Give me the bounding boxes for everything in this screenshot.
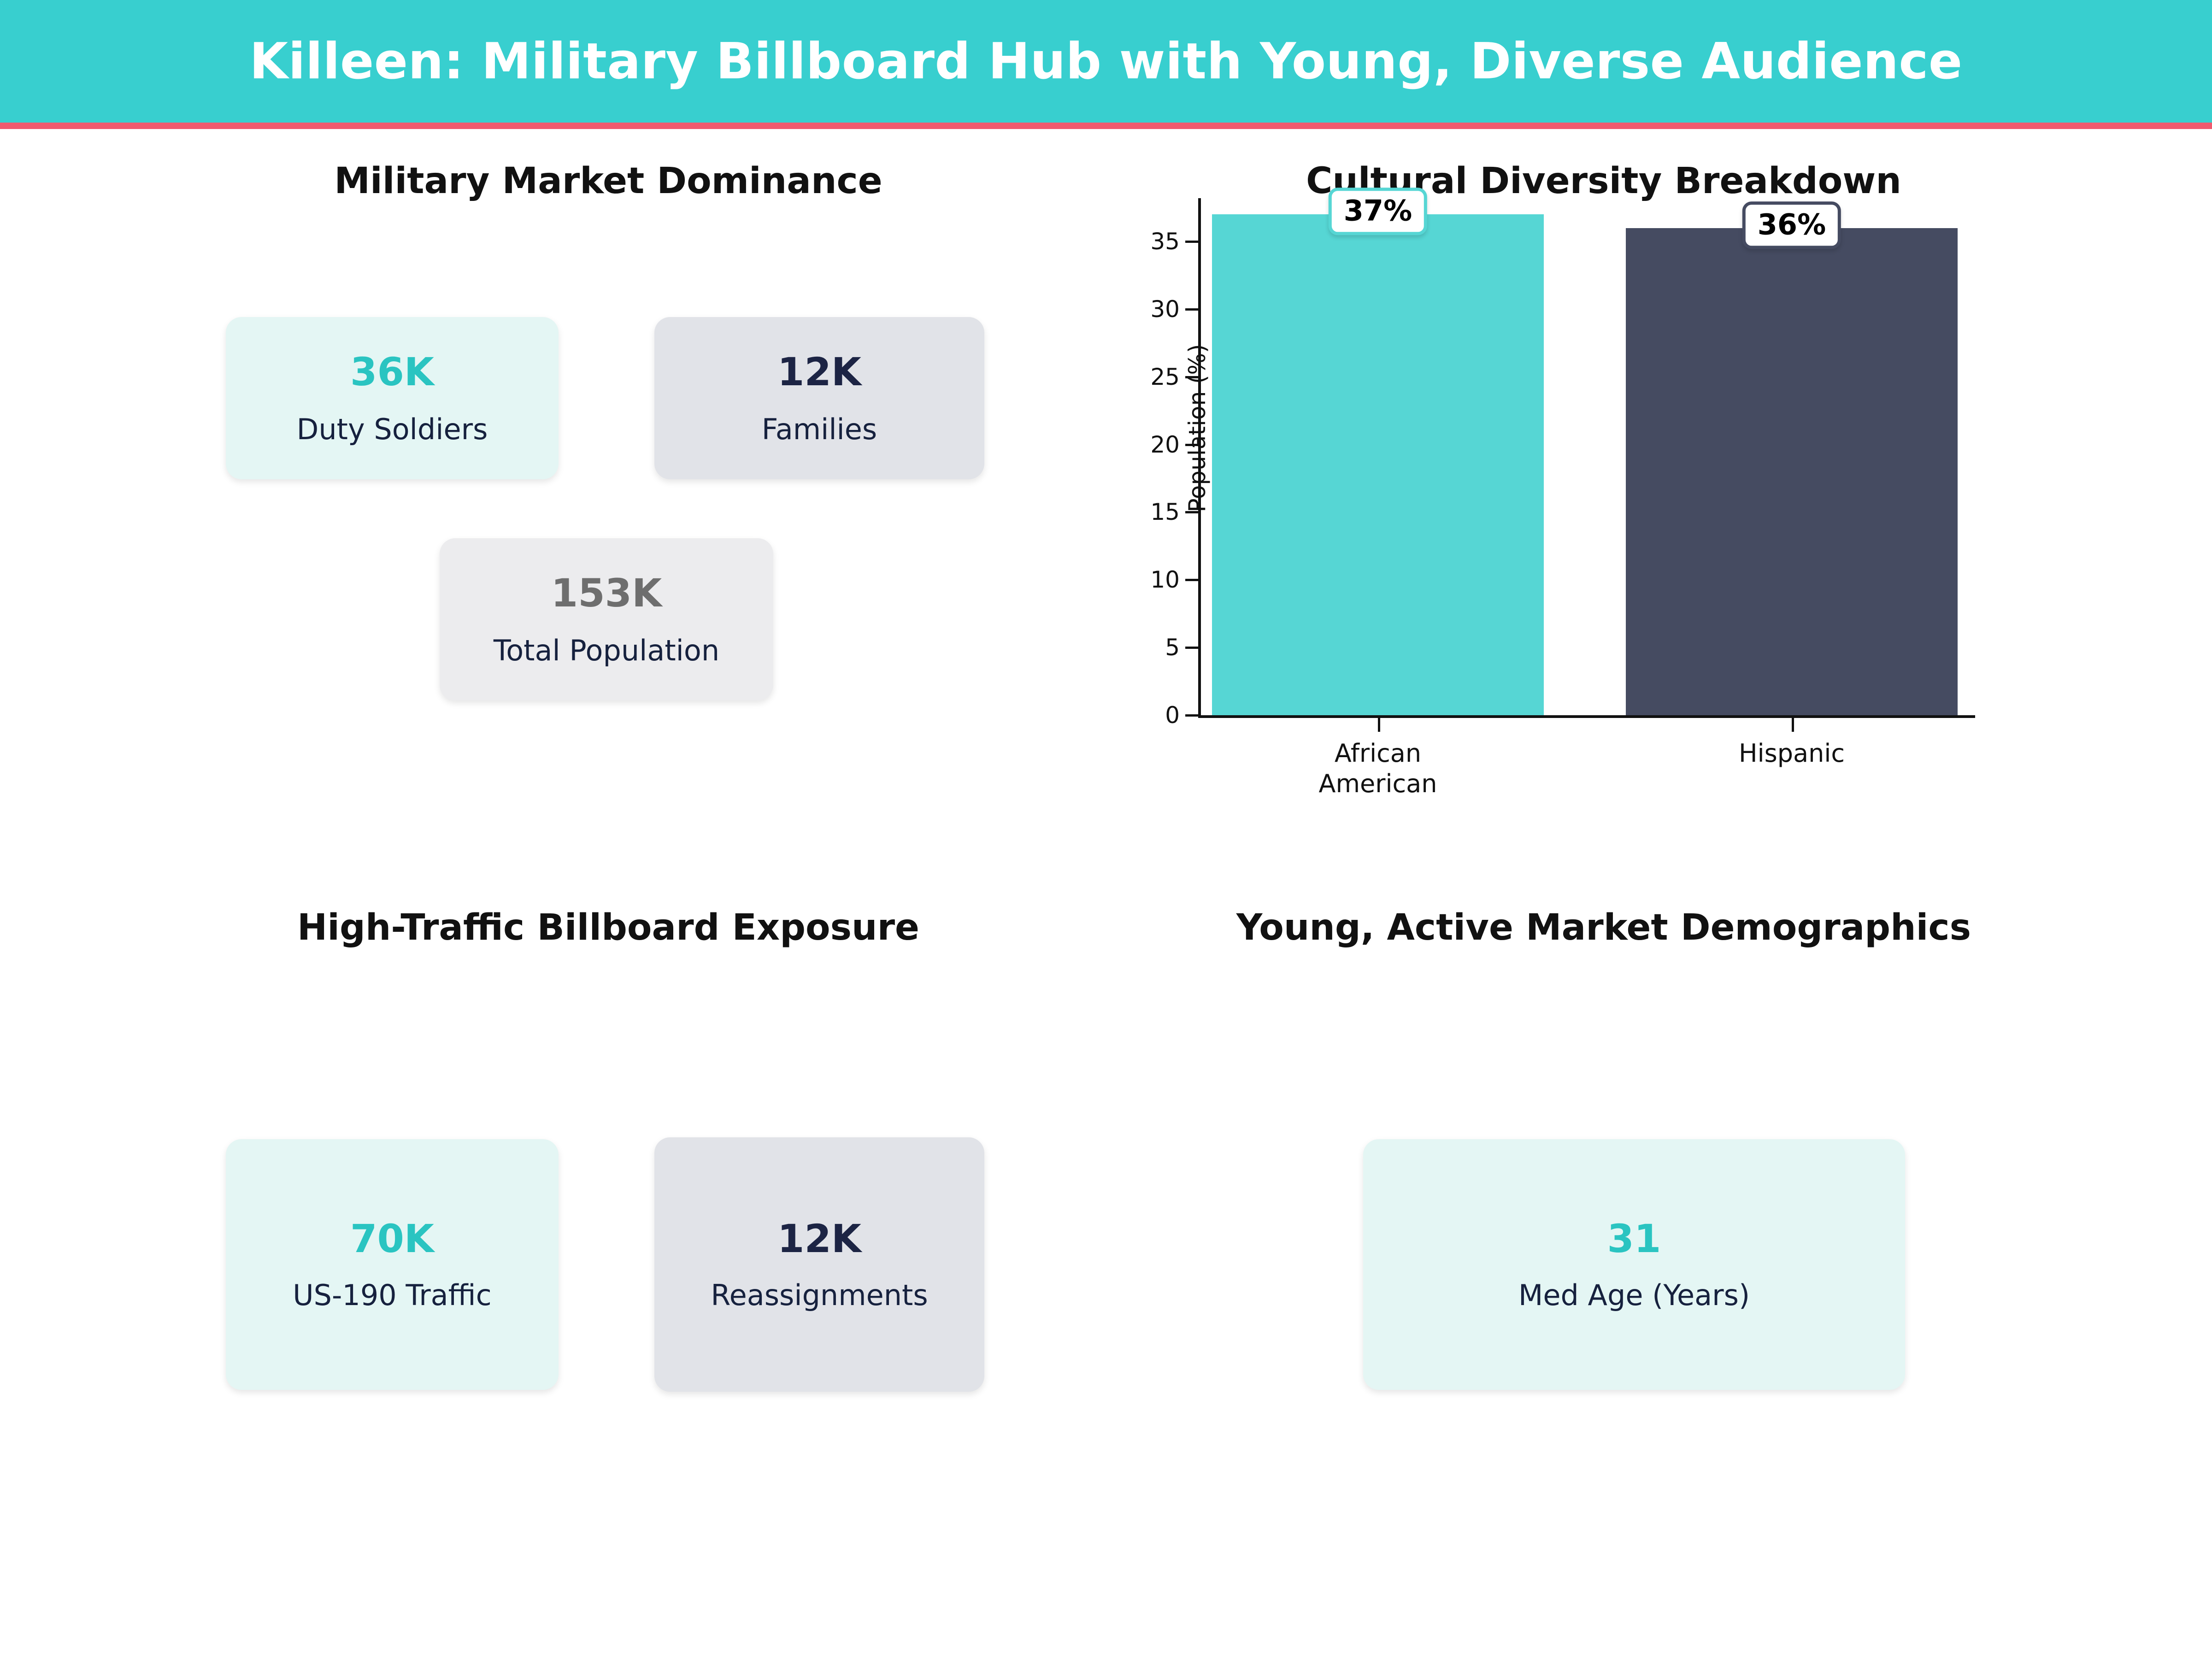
chart-y-tick-mark (1185, 444, 1198, 446)
header-bar: Killeen: Military Billboard Hub with You… (0, 0, 2212, 123)
kpi-value: 12K (777, 1219, 861, 1258)
kpi-label: Duty Soldiers (297, 415, 488, 444)
kpi-value: 31 (1607, 1219, 1661, 1258)
chart-y-tick-label: 25 (1129, 365, 1180, 388)
chart-y-tick-label: 5 (1129, 636, 1180, 659)
kpi-value: 70K (350, 1219, 434, 1258)
kpi-card-us190-traffic: 70K US-190 Traffic (226, 1139, 559, 1390)
chart-y-tick-label: 0 (1129, 704, 1180, 727)
kpi-label: US-190 Traffic (293, 1281, 491, 1310)
chart-x-tick-label-line: Hispanic (1607, 738, 1976, 769)
page-title: Killeen: Military Billboard Hub with You… (0, 0, 2212, 123)
chart-x-tick-label-line: American (1194, 769, 1562, 799)
kpi-card-duty-soldiers: 36K Duty Soldiers (226, 317, 559, 479)
chart-y-tick-label: 30 (1129, 298, 1180, 321)
chart-bar-value-label: 37% (1329, 188, 1427, 235)
kpi-label: Total Population (494, 636, 719, 665)
chart-x-tick-label-line: African (1194, 738, 1562, 769)
chart-x-tick-label: AfricanAmerican (1194, 738, 1562, 799)
chart-y-tick-mark (1185, 511, 1198, 513)
chart-x-tick-label: Hispanic (1607, 738, 1976, 769)
kpi-card-median-age: 31 Med Age (Years) (1363, 1139, 1905, 1390)
chart-y-tick-label: 20 (1129, 433, 1180, 456)
kpi-label: Families (762, 415, 877, 444)
kpi-label: Med Age (Years) (1518, 1281, 1750, 1310)
cultural-diversity-bar-chart: Population (%) 0510152025303537%AfricanA… (1106, 198, 2115, 853)
header-accent-rule (0, 123, 2212, 129)
chart-x-tick-mark (1792, 715, 1794, 732)
infographic-page: Killeen: Military Billboard Hub with You… (0, 0, 2212, 1659)
chart-y-tick-mark (1185, 647, 1198, 649)
chart-y-tick-mark (1185, 579, 1198, 581)
chart-x-tick-mark (1378, 715, 1380, 732)
panel-title-high-traffic-billboard-exposure: High-Traffic Billboard Exposure (111, 907, 1106, 948)
chart-y-tick-mark (1185, 308, 1198, 311)
chart-bar (1626, 228, 1958, 715)
chart-bar (1212, 214, 1544, 715)
chart-y-tick-label: 35 (1129, 230, 1180, 253)
chart-y-tick-mark (1185, 241, 1198, 243)
chart-y-tick-label: 15 (1129, 500, 1180, 524)
kpi-label: Reassignments (711, 1281, 928, 1310)
panel-title-military-market-dominance: Military Market Dominance (111, 160, 1106, 202)
kpi-value: 153K (551, 574, 662, 612)
kpi-value: 36K (350, 353, 434, 391)
panel-title-cultural-diversity-breakdown: Cultural Diversity Breakdown (1106, 160, 2101, 202)
kpi-value: 12K (777, 353, 861, 391)
kpi-card-total-population: 153K Total Population (440, 538, 773, 700)
chart-y-tick-label: 10 (1129, 568, 1180, 591)
chart-x-axis-line (1198, 715, 1975, 718)
chart-plot-area: 0510152025303537%AfricanAmerican36%Hispa… (1198, 198, 1971, 715)
chart-y-tick-mark (1185, 714, 1198, 717)
chart-bar-value-label: 36% (1742, 201, 1841, 249)
kpi-card-families: 12K Families (654, 317, 984, 479)
panel-title-young-active-market-demographics: Young, Active Market Demographics (1106, 907, 2101, 948)
kpi-card-reassignments: 12K Reassignments (654, 1137, 984, 1392)
chart-y-tick-mark (1185, 376, 1198, 378)
